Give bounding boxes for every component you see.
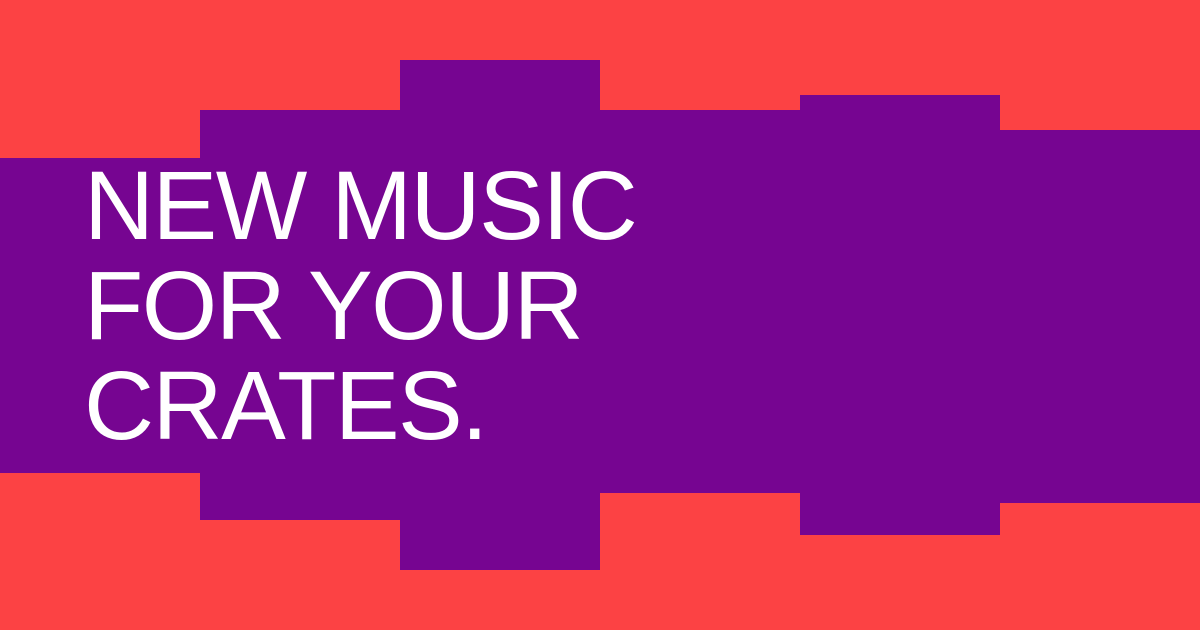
headline-line-1: NEW MUSIC (84, 156, 784, 256)
promo-banner: NEW MUSIC FOR YOUR CRATES. (0, 0, 1200, 630)
headline-line-2: FOR YOUR (84, 256, 784, 356)
page-title: NEW MUSIC FOR YOUR CRATES. (84, 156, 784, 456)
purple-block-6 (1000, 130, 1200, 503)
purple-block-5 (800, 95, 1000, 535)
headline-line-3: CRATES. (84, 356, 784, 456)
